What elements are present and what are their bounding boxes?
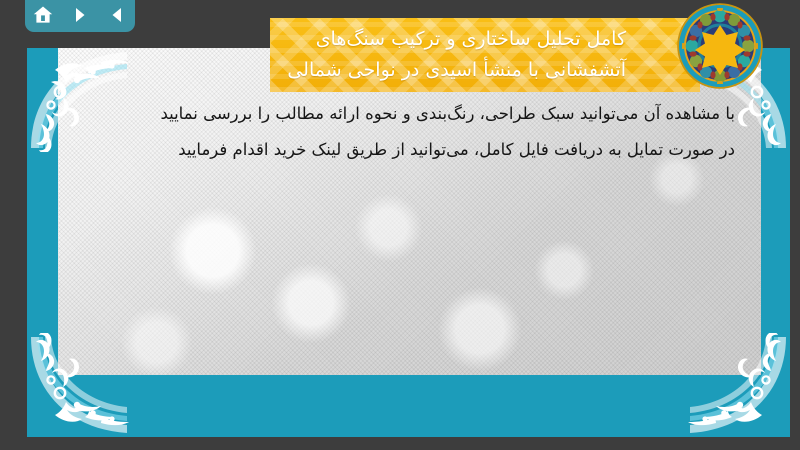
bottom-footer-bar: [0, 437, 800, 450]
body-line: با مشاهده آن می‌توانید سبک طراحی، رنگ‌بن…: [74, 96, 735, 132]
previous-slide-button[interactable]: [104, 2, 130, 28]
body-line: در صورت تمایل به دریافت فایل کامل، می‌تو…: [74, 132, 735, 168]
slide-title-banner: کامل تحلیل ساختاری و ترکیب سنگ‌های آتشفش…: [270, 18, 700, 92]
triangle-right-icon: [70, 5, 90, 25]
page-title: کامل تحلیل ساختاری و ترکیب سنگ‌های: [280, 24, 626, 55]
page-title-second-line: آتشفشانی با منشأ اسیدی در نواحی شمالی: [280, 55, 626, 86]
navigation-toolbar: [25, 0, 135, 32]
home-icon: [32, 4, 54, 26]
triangle-left-icon: [107, 5, 127, 25]
next-slide-button[interactable]: [67, 2, 93, 28]
home-button[interactable]: [30, 2, 56, 28]
persian-medallion-icon: [676, 2, 764, 90]
